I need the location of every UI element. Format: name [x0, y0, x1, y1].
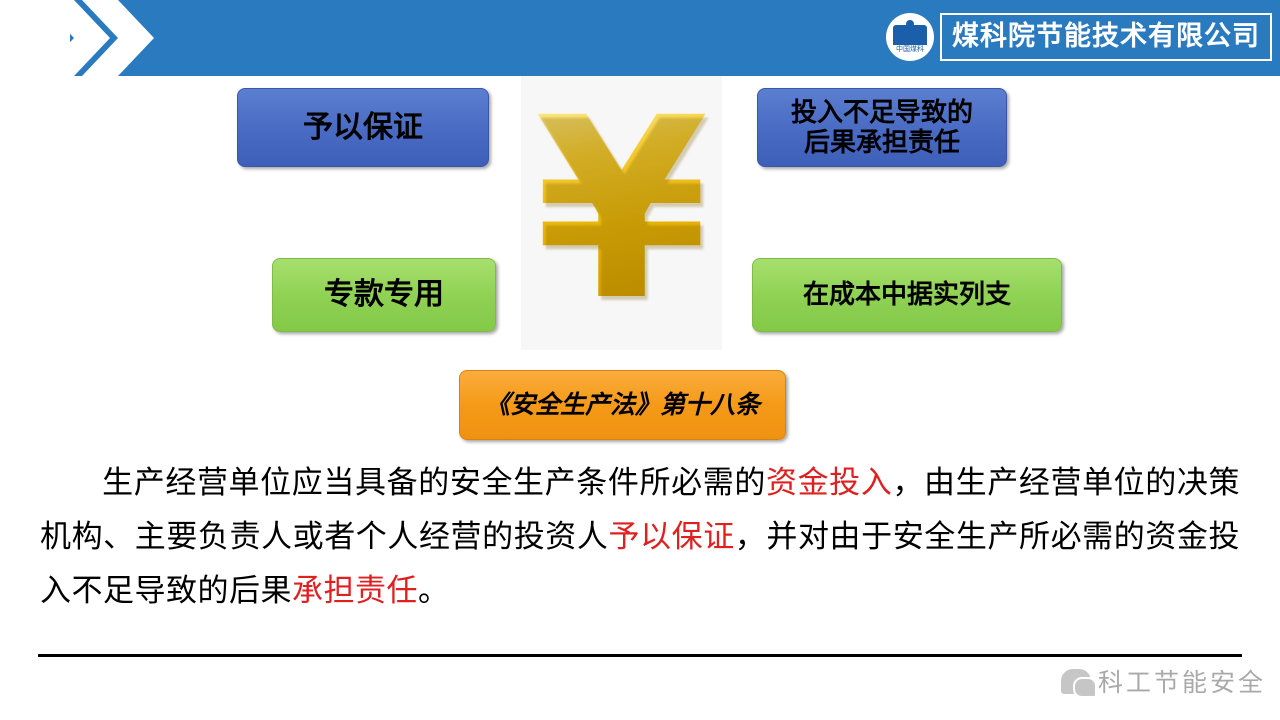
china-coal-logo-icon: 中国煤科 — [886, 13, 934, 61]
callout-box-touru[interactable]: 投入不足导致的 后果承担责任 — [757, 88, 1007, 167]
paragraph-highlight-3: 承担责任 — [292, 573, 418, 608]
callout-box-touru-label: 投入不足导致的 后果承担责任 — [791, 98, 973, 156]
wechat-watermark: 科工节能安全 — [1061, 663, 1266, 699]
callout-box-zhuankuan[interactable]: 专款专用 — [272, 258, 496, 332]
callout-box-yuyibaozheng[interactable]: 予以保证 — [237, 88, 489, 167]
callout-box-zhuankuan-label: 专款专用 — [324, 278, 444, 312]
company-name: 煤科院节能技术有限公司 — [940, 13, 1272, 61]
chevron-decoration-icon — [38, 0, 168, 76]
wechat-icon — [1061, 669, 1091, 694]
callout-box-law-reference[interactable]: 《安全生产法》第十八条 — [459, 370, 786, 440]
header-brand: 中国煤科 煤科院节能技术有限公司 — [886, 8, 1272, 66]
callout-box-touru-line1: 投入不足导致的 — [791, 97, 973, 127]
callout-box-chengben[interactable]: 在成本中据实列支 — [752, 258, 1062, 332]
wechat-label: 科工节能安全 — [1098, 663, 1266, 699]
yuan-symbol-image: ¥ — [521, 76, 722, 350]
callout-box-law-reference-label: 《安全生产法》第十八条 — [485, 391, 760, 419]
callout-box-yuyibaozheng-label: 予以保证 — [303, 111, 423, 145]
callout-box-touru-line2: 后果承担责任 — [804, 127, 960, 157]
china-coal-logo-mark — [893, 25, 927, 45]
body-paragraph: 生产经营单位应当具备的安全生产条件所必需的资金投入，由生产经营单位的决策机构、主… — [40, 456, 1240, 618]
slide-body: ¥ 予以保证 投入不足导致的 后果承担责任 专款专用 在成本中据实列支 《安全生… — [0, 76, 1280, 720]
paragraph-seg4: 。 — [418, 573, 450, 608]
paragraph-seg1: 生产经营单位应当具备的安全生产条件所必需的 — [102, 465, 766, 500]
yuan-symbol-glyph: ¥ — [535, 85, 709, 335]
footer-divider — [38, 654, 1242, 657]
paragraph-highlight-2: 予以保证 — [608, 519, 734, 554]
callout-box-chengben-label: 在成本中据实列支 — [803, 280, 1011, 309]
paragraph-highlight-1: 资金投入 — [766, 465, 892, 500]
china-coal-logo-text: 中国煤科 — [896, 46, 924, 54]
